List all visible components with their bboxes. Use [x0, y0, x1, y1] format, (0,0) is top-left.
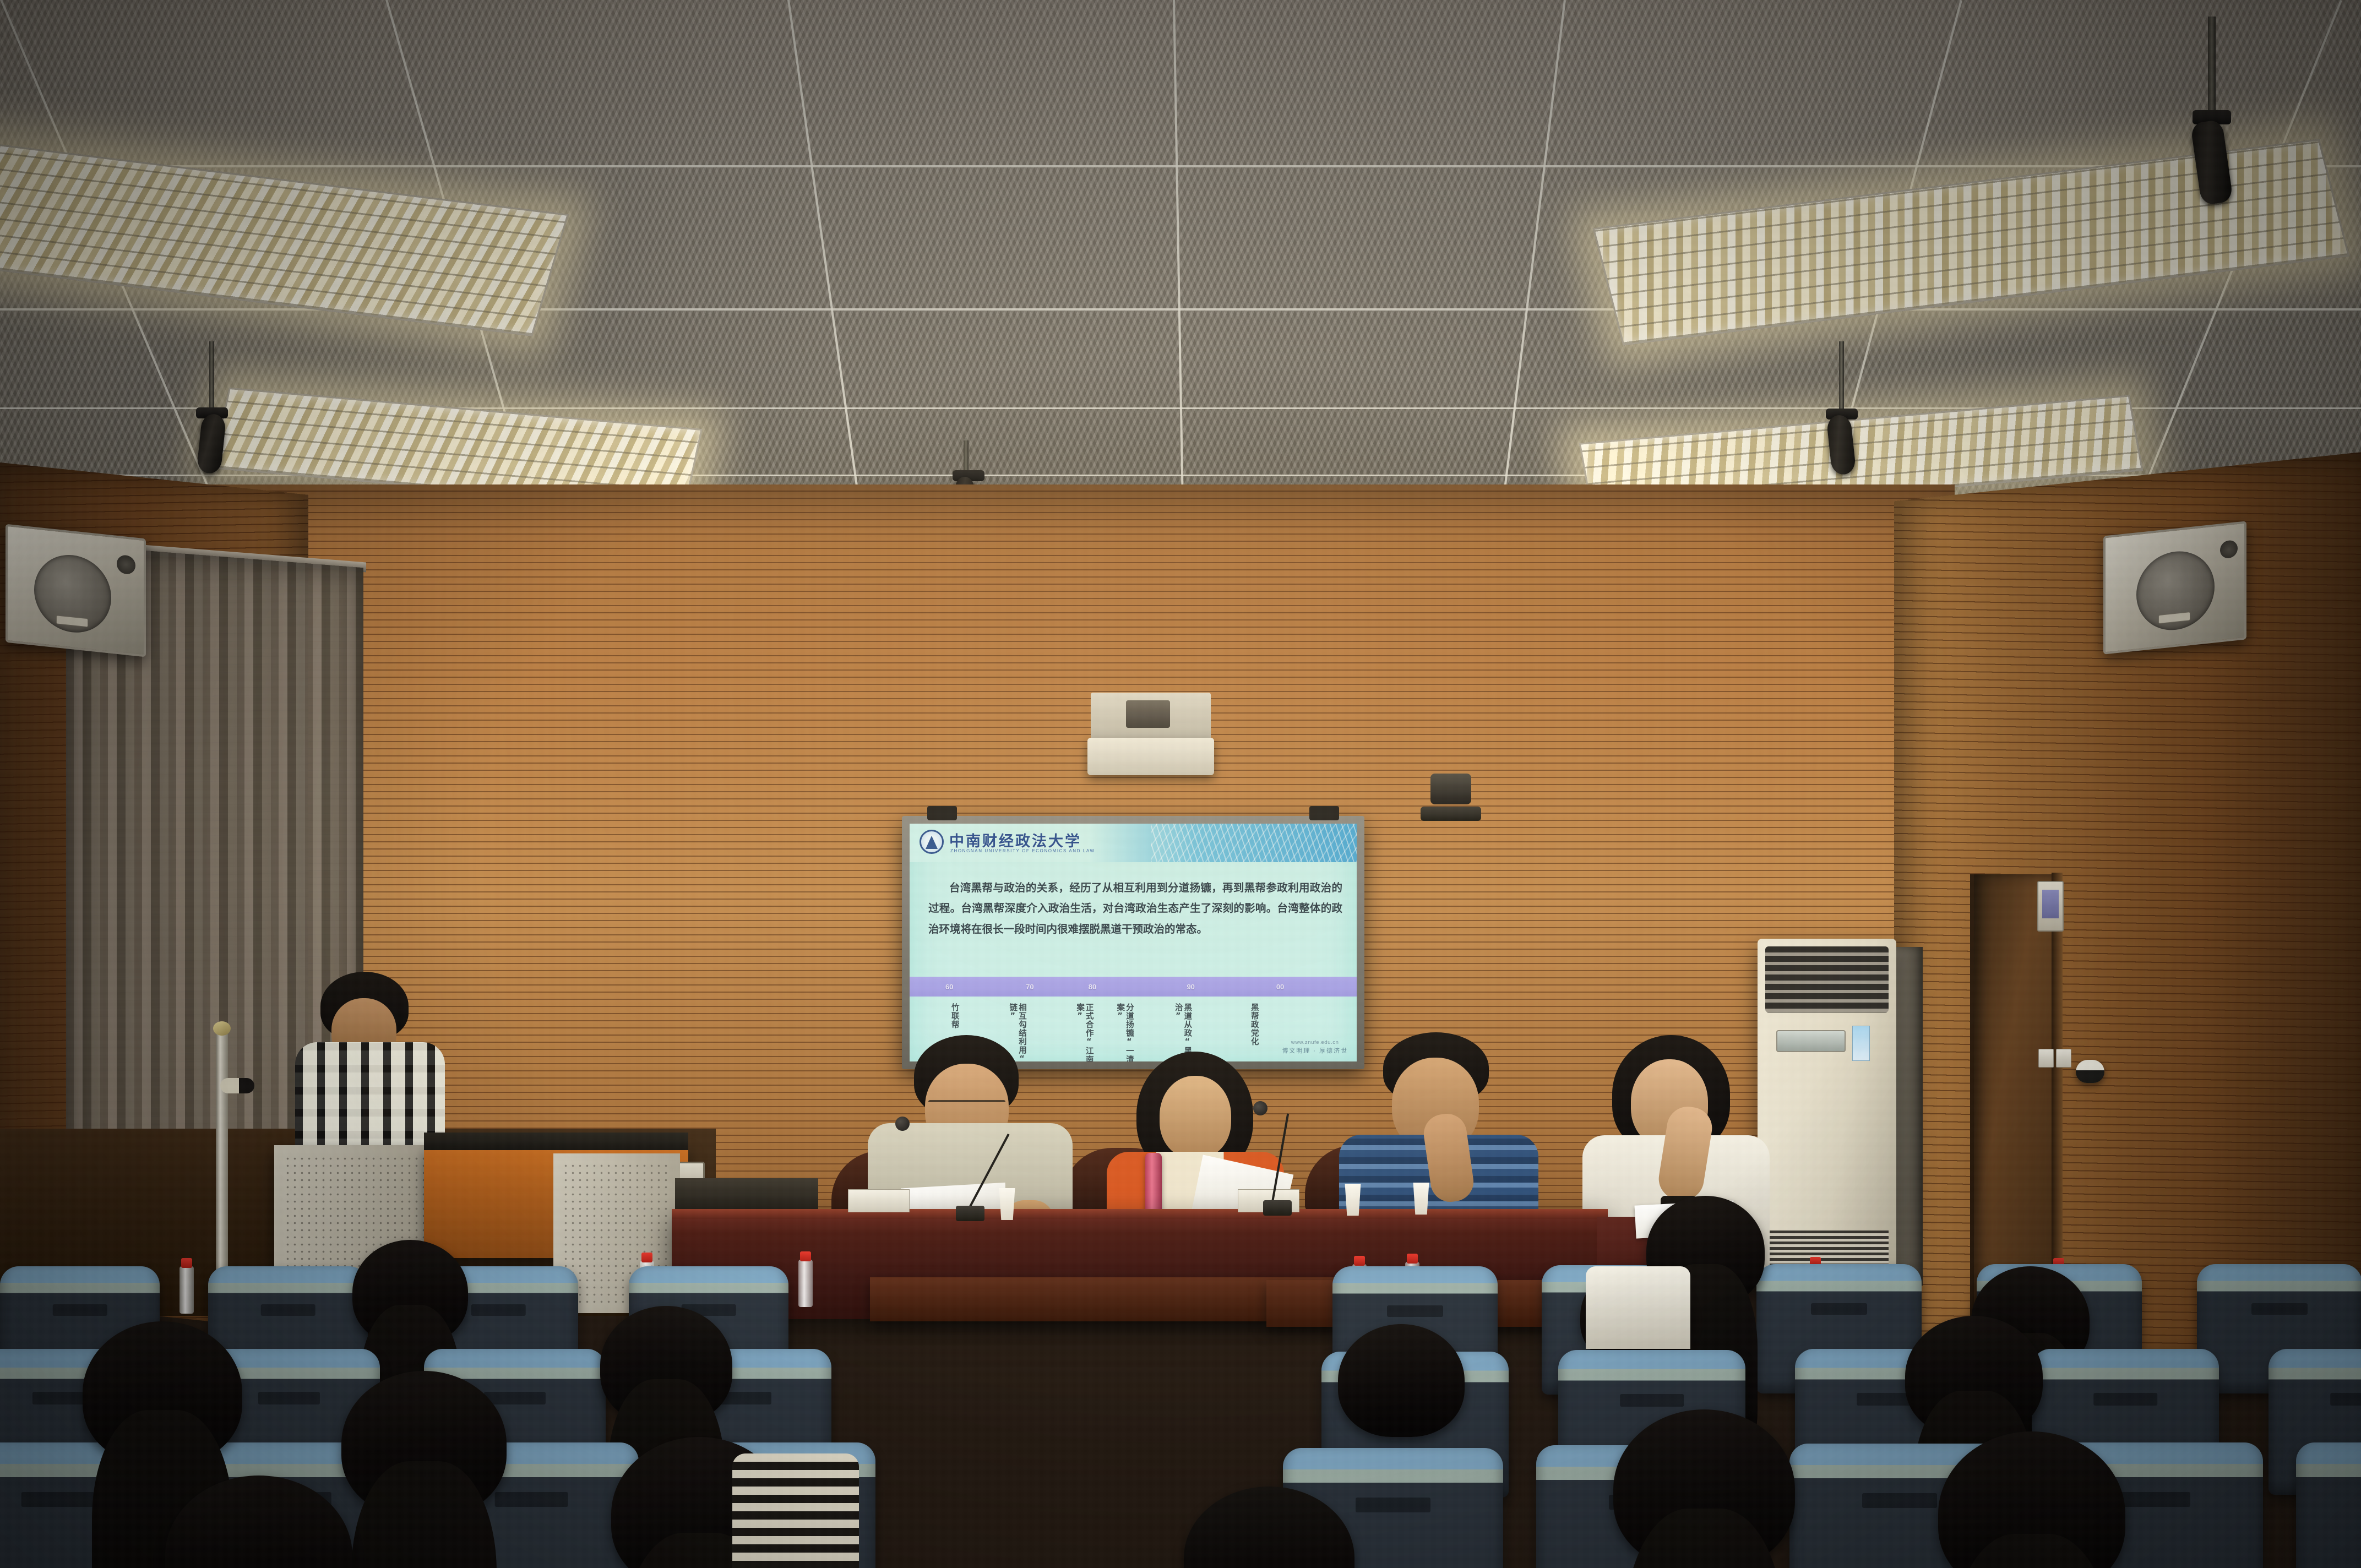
floor-ac-unit	[1758, 939, 1896, 1286]
slide-footer-url: www.znufe.edu.cn	[1282, 1039, 1348, 1046]
presentation-slide: 中南财经政法大学 ZHONGNAN UNIVERSITY OF ECONOMIC…	[910, 824, 1357, 1061]
screen-mount-clip	[927, 806, 957, 820]
timeline-tick: 80	[1089, 983, 1096, 991]
slide-footer-motto: 博文明理 · 厚德济世	[1282, 1046, 1348, 1055]
gooseneck-microphone	[1217, 1101, 1299, 1211]
slide-header-texture	[1151, 824, 1357, 862]
ac-energy-label	[1852, 1026, 1870, 1061]
ac-intake-grille	[1765, 946, 1889, 1012]
projector-body	[1087, 738, 1214, 775]
control-panel-display	[2042, 890, 2059, 918]
projection-screen: 中南财经政法大学 ZHONGNAN UNIVERSITY OF ECONOMIC…	[902, 816, 1364, 1069]
audience-attendee-white	[1586, 1266, 1690, 1349]
screen-mount-clip	[1309, 806, 1339, 820]
bottle-cap	[181, 1258, 192, 1268]
audience-head	[341, 1371, 507, 1517]
wall-camera	[1421, 774, 1481, 821]
bottle-cap	[1354, 1256, 1365, 1266]
camera-mount	[1421, 807, 1481, 821]
right-wall-speaker	[2103, 521, 2246, 654]
timeline-tick: 00	[1276, 983, 1284, 991]
ceiling	[0, 0, 2361, 529]
gooseneck-microphone	[897, 1112, 986, 1217]
audience-head	[352, 1240, 468, 1344]
speaker-tweeter	[117, 554, 135, 575]
audience-head	[1613, 1409, 1795, 1568]
pink-water-bottle	[1145, 1153, 1162, 1215]
audience-head	[1338, 1324, 1465, 1437]
wall-control-panel[interactable]	[2037, 881, 2064, 932]
timeline-label: 竹联帮	[950, 1003, 959, 1029]
audience-head	[600, 1306, 732, 1424]
audience-seat[interactable]	[2296, 1442, 2361, 1568]
slide-body-text: 台湾黑帮与政治的关系，经历了从相互利用到分道扬镳，再到黑帮参政利用政治的过程。台…	[928, 878, 1342, 939]
stanchion-post	[216, 1032, 228, 1291]
door-frame	[2052, 873, 2063, 1322]
audience-head	[83, 1321, 242, 1464]
ac-unit-side	[1892, 947, 1923, 1286]
slide-timeline-bar: 60 70 80 90 00	[910, 977, 1357, 997]
operator-torso	[295, 1042, 445, 1161]
timeline-label: 正式合作“江南案”	[1075, 1003, 1093, 1061]
slide-footer: www.znufe.edu.cn 博文明理 · 厚德济世	[1282, 1039, 1348, 1055]
timeline-tick: 90	[1187, 983, 1194, 991]
university-name-en: ZHONGNAN UNIVERSITY OF ECONOMICS AND LAW	[950, 848, 1095, 853]
left-wall-speaker	[6, 524, 146, 657]
projector-arm	[1126, 700, 1170, 728]
bottle-cap	[800, 1251, 811, 1261]
dome-camera-icon	[2076, 1060, 2104, 1083]
panelist-glasses-icon	[928, 1100, 1005, 1109]
conference-room-photo: 中南财经政法大学 ZHONGNAN UNIVERSITY OF ECONOMIC…	[0, 0, 2361, 1568]
university-logo-icon	[920, 830, 944, 854]
control-desk-top	[424, 1133, 688, 1150]
ceiling-projector	[1087, 693, 1214, 775]
camera-body	[1430, 774, 1471, 804]
water-bottle	[798, 1260, 813, 1307]
university-name-cn: 中南财经政法大学	[949, 829, 1081, 851]
audience-head	[1905, 1316, 2043, 1437]
ac-control-panel[interactable]	[1776, 1030, 1846, 1052]
table-edge	[672, 1209, 1608, 1219]
timeline-tick: 70	[1026, 983, 1033, 991]
timeline-tick: 60	[945, 983, 953, 991]
room-door[interactable]	[1970, 874, 2057, 1320]
speaker-tweeter	[2220, 540, 2238, 559]
bottle-cap	[1407, 1254, 1418, 1264]
light-switches[interactable]	[2038, 1049, 2071, 1068]
water-bottle	[179, 1266, 194, 1314]
timeline-label: 黑帮政党化	[1249, 1003, 1259, 1046]
audience-attendee-striped	[732, 1453, 859, 1568]
ceiling-grid-line	[0, 165, 2361, 167]
podium-operator	[286, 972, 451, 1153]
stanchion-knob	[220, 1078, 254, 1093]
bottle-cap	[641, 1253, 652, 1262]
